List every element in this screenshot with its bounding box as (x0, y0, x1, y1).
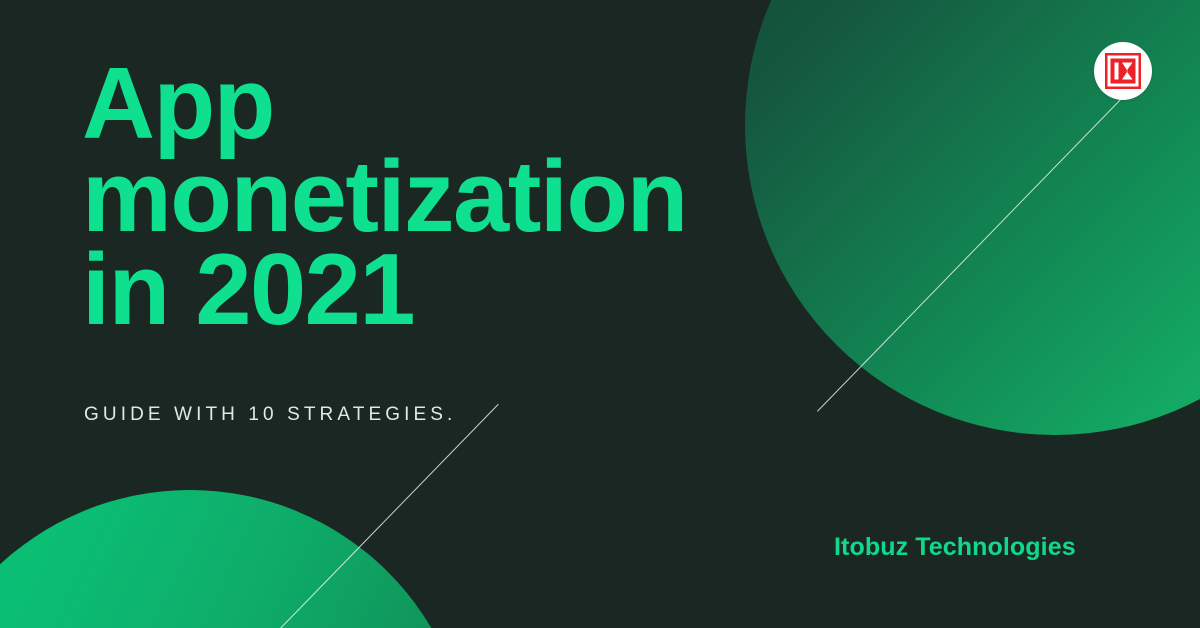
headline-line-1: App (82, 58, 782, 151)
subtitle: GUIDE WITH 10 STRATEGIES. (84, 404, 456, 426)
itobuz-k-logo-icon (1105, 53, 1141, 89)
decorative-circle-bottom-left (0, 490, 470, 628)
brand-name: Itobuz Technologies (834, 533, 1076, 562)
brand-logo-badge[interactable] (1094, 42, 1152, 100)
headline-line-3: in 2021 (82, 244, 782, 337)
promo-banner: App monetization in 2021 GUIDE WITH 10 S… (0, 0, 1200, 628)
page-title: App monetization in 2021 (82, 58, 782, 337)
headline-line-2: monetization (82, 151, 782, 244)
